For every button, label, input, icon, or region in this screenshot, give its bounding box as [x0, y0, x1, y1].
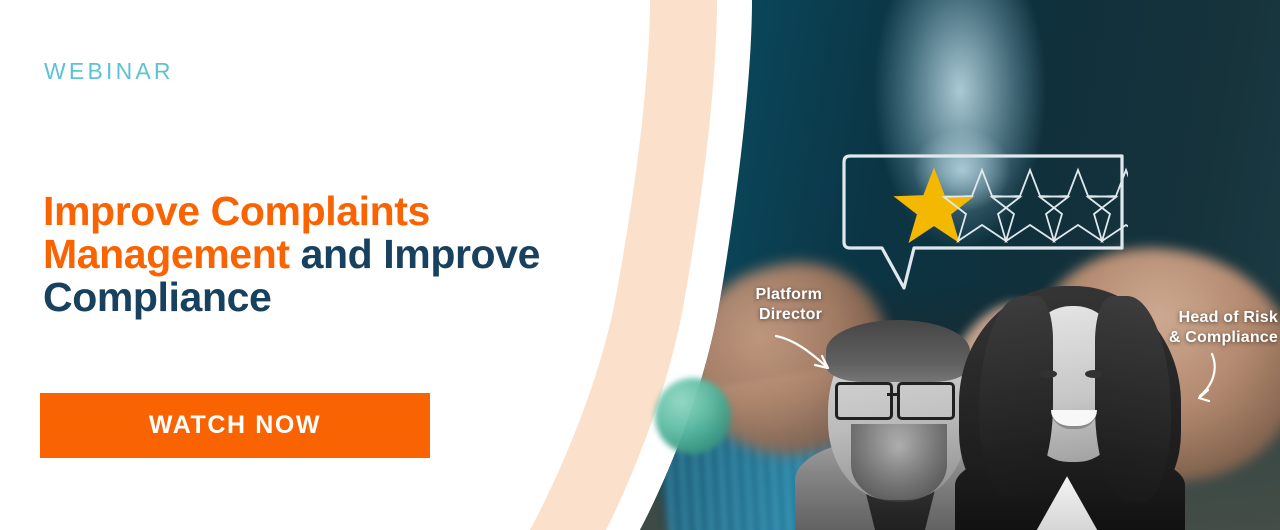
speaker-m-beard: [851, 424, 947, 502]
speaker-label-text: Platform Director: [756, 286, 823, 323]
speaker-m-hair: [826, 320, 970, 382]
watch-now-button-label: WATCH NOW: [149, 411, 321, 440]
speaker-f-eye-right: [1085, 370, 1103, 378]
glasses-lens-left: [835, 382, 893, 420]
speaker-label-platform-director: Platform Director: [700, 285, 822, 325]
speaker-label-head-of-risk: Head of Risk & Compliance: [1130, 308, 1278, 348]
eyebrow-label: WEBINAR: [44, 58, 174, 85]
teal-sphere: [655, 378, 731, 454]
star-rating-bubble: [836, 152, 1128, 292]
speaker-label-line-1: Head of Risk: [1130, 308, 1278, 328]
watch-now-button[interactable]: WATCH NOW: [40, 393, 430, 458]
glasses-icon: [835, 382, 963, 416]
glasses-lens-right: [897, 382, 955, 420]
speaker-label-line-2: & Compliance: [1130, 328, 1278, 348]
page-title: Improve Complaints Management and Improv…: [43, 190, 663, 319]
webinar-promo-banner: Platform Director Head of Risk & Complia…: [0, 0, 1280, 530]
star-rating-icon: [836, 152, 1128, 292]
speaker-f-eye-left: [1039, 370, 1057, 378]
